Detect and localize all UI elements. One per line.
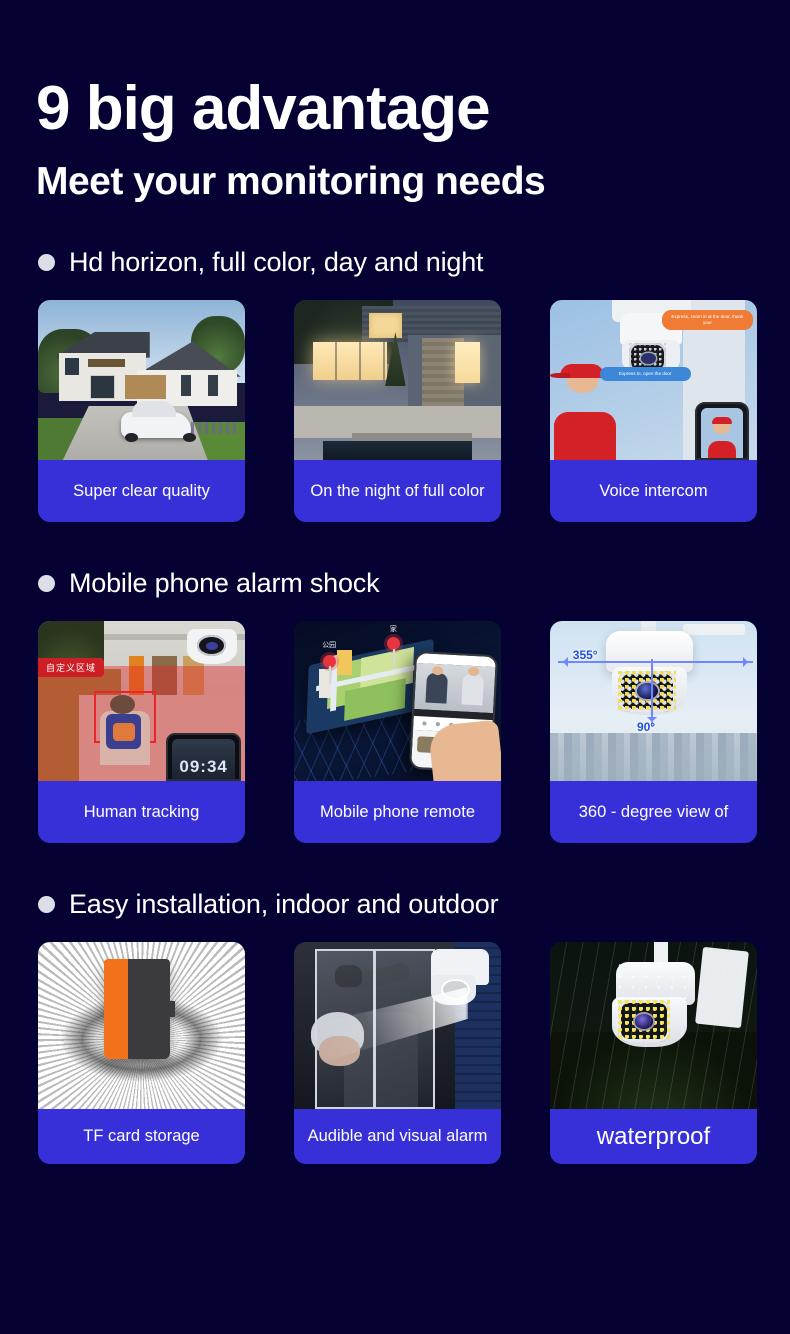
card-image-intercom: Express, zoom in at the door, thank you!…: [550, 300, 757, 460]
annotation-tilt-angle: 90°: [637, 720, 655, 734]
section-easy-installation: Easy installation, indoor and outdoor TF…: [0, 889, 790, 1164]
card-waterproof[interactable]: waterproof: [550, 942, 757, 1164]
card-night-full-color[interactable]: On the night of full color: [294, 300, 501, 522]
section-heading: Easy installation, indoor and outdoor: [0, 889, 790, 920]
card-image-camera-rain: [550, 942, 757, 1109]
card-label: waterproof: [550, 1109, 757, 1164]
section-heading: Mobile phone alarm shock: [0, 568, 790, 599]
card-row-3: TF card storage Audible and visual alarm: [0, 942, 790, 1164]
card-image-intruder: [294, 942, 501, 1109]
card-image-microsd: [38, 942, 245, 1109]
card-image-map-phone: 公园 家: [294, 621, 501, 781]
card-human-tracking[interactable]: 自定义区域 09:34 Human tracking: [38, 621, 245, 843]
speech-bubble-person: Express to, open the door: [600, 367, 691, 381]
card-label: Mobile phone remote: [294, 781, 501, 843]
card-row-2: 自定义区域 09:34 Human tracking: [0, 621, 790, 843]
card-label: On the night of full color: [294, 460, 501, 522]
section-heading: Hd horizon, full color, day and night: [0, 247, 790, 278]
section-hd-horizon: Hd horizon, full color, day and night Su…: [0, 247, 790, 522]
phone-clock: 09:34: [179, 757, 227, 779]
zone-tag-label: 自定义区域: [38, 658, 104, 677]
map-pin-park-label: 公园: [322, 640, 336, 650]
section-title: Hd horizon, full color, day and night: [69, 247, 483, 278]
promo-page: 9 big advantage Meet your monitoring nee…: [0, 0, 790, 1334]
card-audible-visual-alarm[interactable]: Audible and visual alarm: [294, 942, 501, 1164]
section-title: Mobile phone alarm shock: [69, 568, 379, 599]
card-label: 360 - degree view of: [550, 781, 757, 843]
map-pin-home-label: 家: [390, 624, 397, 634]
card-tf-card-storage[interactable]: TF card storage: [38, 942, 245, 1164]
annotation-pan-angle: 355°: [573, 648, 598, 662]
card-label: Audible and visual alarm: [294, 1109, 501, 1164]
card-voice-intercom[interactable]: Express, zoom in at the door, thank you!…: [550, 300, 757, 522]
speech-bubble-camera: Express, zoom in at the door, thank you!: [662, 310, 753, 330]
bullet-icon: [38, 896, 55, 913]
page-title: 9 big advantage: [36, 78, 790, 140]
map-pin-park: [323, 655, 336, 668]
card-image-night-house: [294, 300, 501, 460]
card-row-1: Super clear quality On the night of full…: [0, 300, 790, 522]
card-360-degree-view[interactable]: 355° 90° 360 - degree view of: [550, 621, 757, 843]
card-super-clear-quality[interactable]: Super clear quality: [38, 300, 245, 522]
page-subtitle: Meet your monitoring needs: [36, 162, 790, 201]
bullet-icon: [38, 575, 55, 592]
card-image-day-house: [38, 300, 245, 460]
card-image-human-tracking: 自定义区域 09:34: [38, 621, 245, 781]
section-title: Easy installation, indoor and outdoor: [69, 889, 498, 920]
hero-header: 9 big advantage Meet your monitoring nee…: [0, 0, 790, 201]
card-label: TF card storage: [38, 1109, 245, 1164]
card-label: Super clear quality: [38, 460, 245, 522]
bullet-icon: [38, 254, 55, 271]
card-label: Human tracking: [38, 781, 245, 843]
card-label: Voice intercom: [550, 460, 757, 522]
section-mobile-alarm: Mobile phone alarm shock 自定义区域 0: [0, 568, 790, 843]
card-image-ptz-camera: 355° 90°: [550, 621, 757, 781]
card-mobile-phone-remote[interactable]: 公园 家 Mobile phone remote: [294, 621, 501, 843]
